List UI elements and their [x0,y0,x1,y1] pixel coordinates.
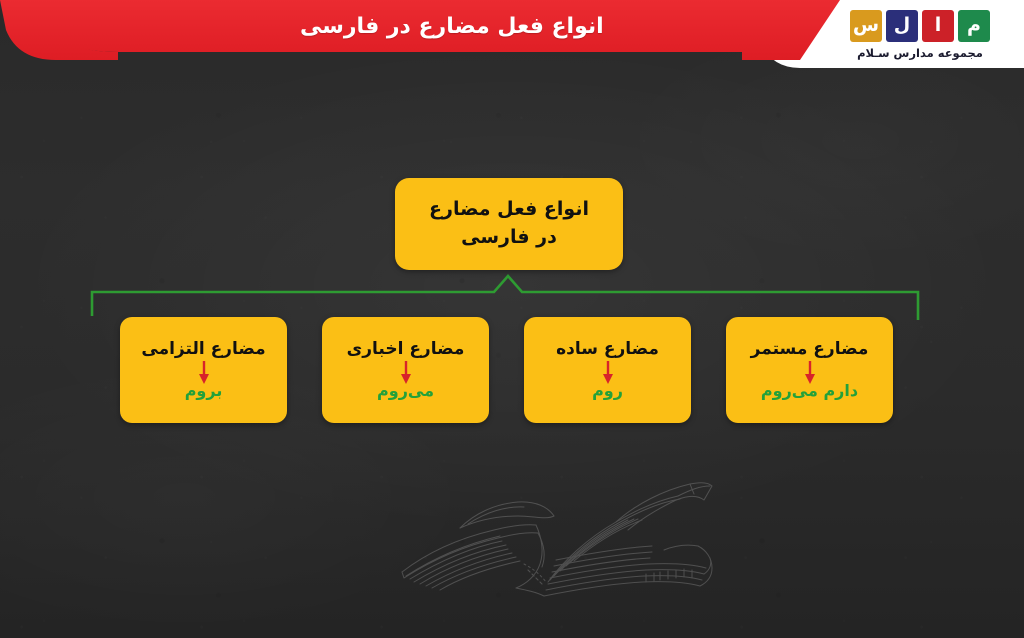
open-book-illustration [398,472,718,607]
branch-card-example: روم [592,382,623,400]
branch-card-example: دارم می‌روم [761,382,858,400]
root-node-line-2: در فارسی [461,227,557,249]
logo-square-meem: م [958,10,990,42]
root-node[interactable]: انواع فعل مضارع در فارسی [395,178,623,270]
branch-card-mozare-sade[interactable]: مضارع ساده روم [524,317,691,423]
logo-square-alef: ا [922,10,954,42]
page-title: انواع فعل مضارع در فارسی [300,14,780,39]
logo-tagline: مجموعه مدارس سـلام [857,46,983,60]
slide-canvas: انواع فعل مضارع در فارسی م ا ل س مجموعه … [0,0,1024,638]
branch-card-title: مضارع اخباری [347,340,465,359]
branch-card-title: مضارع مستمر [751,340,869,359]
branch-cards: مضارع التزامی بروم مضارع اخباری می‌روم م… [0,317,1024,427]
branch-card-mozare-ekhbari[interactable]: مضارع اخباری می‌روم [322,317,489,423]
root-node-line-1: انواع فعل مضارع [429,199,589,221]
branch-card-mozare-mostamar[interactable]: مضارع مستمر دارم می‌روم [726,317,893,423]
logo-square-lam: ل [886,10,918,42]
logo-letter-squares: م ا ل س [850,10,990,42]
branch-card-title: مضارع التزامی [141,340,265,359]
branch-card-mozare-eltezami[interactable]: مضارع التزامی بروم [120,317,287,423]
branch-card-title: مضارع ساده [556,340,659,359]
branch-card-example: می‌روم [377,382,434,400]
logo-square-seen: س [850,10,882,42]
brand-logo[interactable]: م ا ل س مجموعه مدارس سـلام [816,0,1024,70]
branch-card-example: بروم [185,382,223,400]
header-bar: انواع فعل مضارع در فارسی م ا ل س مجموعه … [0,0,1024,70]
